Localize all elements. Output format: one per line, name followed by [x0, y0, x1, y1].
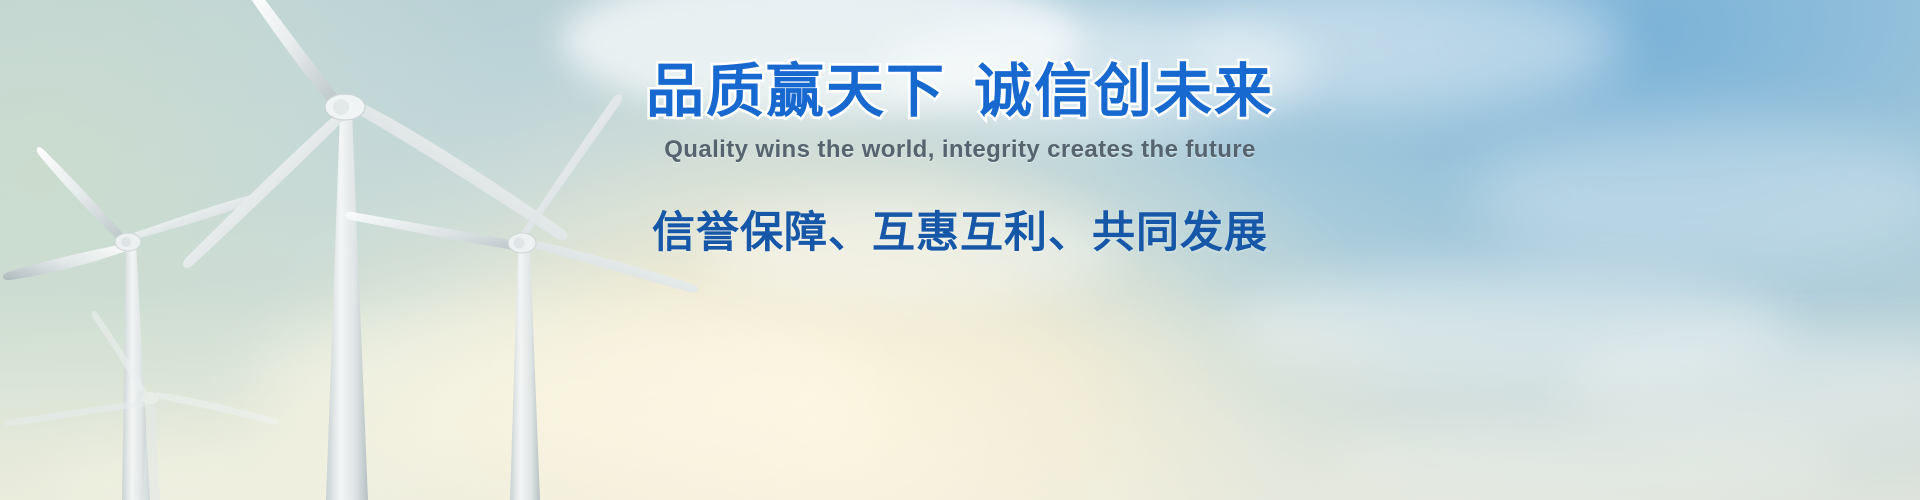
banner-headline: 品质赢天下诚信创未来: [0, 62, 1920, 122]
headline-part-2: 诚信创未来: [974, 59, 1274, 124]
hero-banner: 品质赢天下诚信创未来 Quality wins the world, integ…: [0, 0, 1920, 500]
banner-tagline-chinese: 信誉保障、互惠互利、共同发展: [0, 198, 1920, 260]
headline-part-1: 品质赢天下: [646, 59, 946, 124]
banner-subheadline-english: Quality wins the world, integrity create…: [0, 136, 1920, 164]
banner-copy: 品质赢天下诚信创未来 Quality wins the world, integ…: [0, 62, 1920, 260]
